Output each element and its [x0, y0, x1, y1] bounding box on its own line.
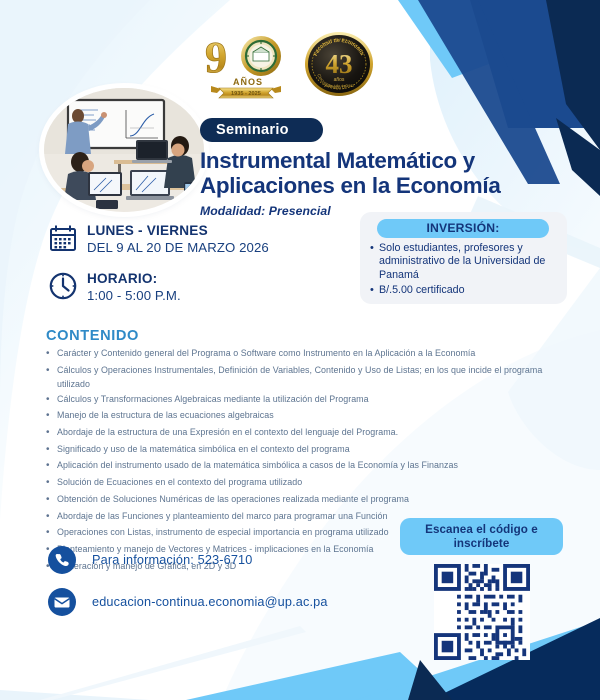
schedule-row-hours: HORARIO: 1:00 - 5:00 P.M. — [48, 270, 348, 305]
investment-panel: INVERSIÓN: • Solo estudiantes, profesore… — [360, 212, 567, 304]
logos-row: 9 AÑOS 1935 - 2025 — [195, 24, 395, 102]
bullet-icon: • — [46, 346, 57, 362]
title-line-1: Instrumental Matemático y — [200, 149, 572, 174]
hours-title: HORARIO: — [87, 271, 181, 287]
bullet-icon: • — [370, 284, 379, 297]
page-title: Instrumental Matemático y Aplicaciones e… — [200, 149, 572, 199]
bullet-icon: • — [46, 408, 57, 424]
bullet-icon: • — [46, 425, 57, 441]
qr-code[interactable] — [434, 564, 530, 660]
svg-text:43: 43 — [326, 49, 353, 79]
bullet-icon: • — [46, 363, 57, 392]
svg-text:AÑOS: AÑOS — [233, 77, 263, 87]
calendar-icon — [48, 223, 78, 253]
contact-section: Para información: 523-6710 educacion-con… — [48, 546, 388, 630]
list-item: • Significado y uso de la matemática sim… — [46, 442, 556, 458]
seminar-tag: Seminario — [200, 118, 323, 142]
qr-instruction-line-1: Escanea el código e — [400, 523, 563, 537]
bullet-icon: • — [46, 442, 57, 458]
anniversary-43-badge-icon: 43 años 25 de julio de 1982 Facultad de … — [303, 30, 375, 98]
schedule-row-dates: LUNES - VIERNES DEL 9 AL 20 DE MARZO 202… — [48, 222, 348, 257]
list-item: • Solución de Ecuaciones en el contexto … — [46, 475, 556, 491]
dates-title: LUNES - VIERNES — [87, 223, 269, 239]
svg-text:1935 - 2025: 1935 - 2025 — [231, 91, 261, 97]
investment-list: • Solo estudiantes, profesores y adminis… — [370, 242, 562, 300]
title-line-2: Aplicaciones en la Economía — [200, 174, 572, 199]
schedule-section: LUNES - VIERNES DEL 9 AL 20 DE MARZO 202… — [48, 222, 348, 317]
list-item: • Manejo de la estructura de las ecuacio… — [46, 408, 556, 424]
dates-range: DEL 9 AL 20 DE MARZO 2026 — [87, 240, 269, 257]
investment-item: • B/.5.00 certificado — [370, 284, 562, 297]
anniversary-90-years-icon: 9 AÑOS 1935 - 2025 — [203, 28, 289, 100]
envelope-icon — [48, 588, 76, 616]
qr-instruction-line-2: inscríbete — [400, 537, 563, 551]
bullet-icon: • — [46, 509, 57, 525]
bullet-icon: • — [46, 392, 57, 408]
hours-range: 1:00 - 5:00 P.M. — [87, 288, 181, 305]
list-item: • Cálculos y Operaciones Instrumentales,… — [46, 363, 556, 392]
bullet-icon: • — [370, 242, 379, 282]
bullet-icon: • — [46, 492, 57, 508]
email-label: educacion-continua.economia@up.ac.pa — [92, 595, 328, 609]
poster: 9 AÑOS 1935 - 2025 — [0, 0, 600, 700]
classroom-photo — [44, 88, 204, 212]
clock-icon — [48, 271, 78, 301]
content-heading: CONTENIDO — [46, 328, 139, 344]
list-item: • Carácter y Contenido general del Progr… — [46, 346, 556, 362]
svg-text:años: años — [334, 77, 345, 83]
list-item: • Cálculos y Transformaciones Algebraica… — [46, 392, 556, 408]
phone-icon — [48, 546, 76, 574]
investment-heading: INVERSIÓN: — [377, 219, 549, 238]
bullet-icon: • — [46, 458, 57, 474]
qr-instruction-pill: Escanea el código e inscríbete — [400, 518, 563, 555]
title-block: Seminario Instrumental Matemático y Apli… — [200, 118, 572, 218]
svg-text:9: 9 — [205, 33, 227, 82]
contact-row-email[interactable]: educacion-continua.economia@up.ac.pa — [48, 588, 388, 616]
investment-item: • Solo estudiantes, profesores y adminis… — [370, 242, 562, 282]
phone-label: Para información: 523-6710 — [92, 553, 252, 567]
contact-row-phone[interactable]: Para información: 523-6710 — [48, 546, 388, 574]
bullet-icon: • — [46, 475, 57, 491]
list-item: • Abordaje de la estructura de una Expre… — [46, 425, 556, 441]
list-item: • Obtención de Soluciones Numéricas de l… — [46, 492, 556, 508]
list-item: • Aplicación del instrumento usado de la… — [46, 458, 556, 474]
bullet-icon: • — [46, 525, 57, 541]
